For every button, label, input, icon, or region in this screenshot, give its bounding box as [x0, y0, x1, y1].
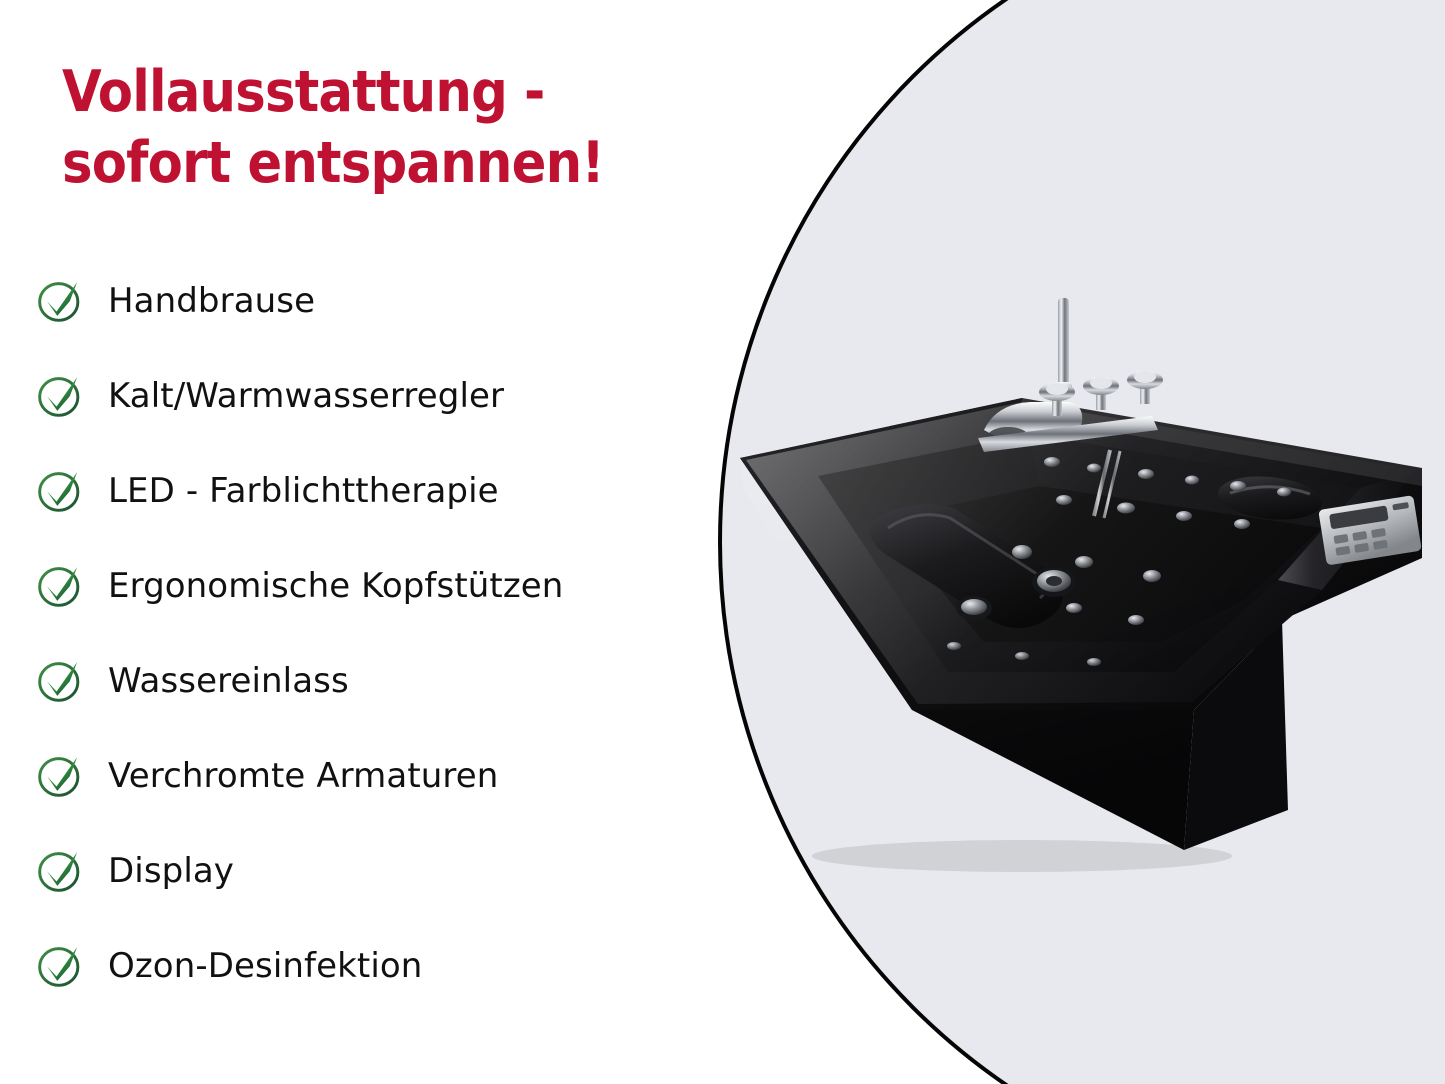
product-photo-circle: [718, 0, 1445, 1084]
list-item-label: LED - Farblichttherapie: [108, 471, 499, 511]
bathtub-illustration: [722, 290, 1445, 930]
check-circle-icon: [36, 467, 83, 514]
check-circle-icon: [36, 277, 83, 324]
list-item-label: Kalt/Warmwasserregler: [108, 376, 504, 416]
tub-rim-gloss: [746, 402, 1416, 704]
list-item: Ozon-Desinfektion: [36, 918, 716, 1013]
check-circle-icon: [36, 942, 83, 989]
list-item-label: Display: [108, 851, 234, 891]
list-item-label: Verchromte Armaturen: [108, 756, 498, 796]
list-item: Kalt/Warmwasserregler: [36, 348, 716, 443]
product-photo-clip: [722, 0, 1445, 1084]
list-item-label: Handbrause: [108, 281, 315, 321]
bathtub-svg: [722, 290, 1445, 930]
whirlpool-rotary-jet: [1032, 567, 1076, 597]
list-item: Ergonomische Kopfstützen: [36, 538, 716, 633]
list-item-label: Ergonomische Kopfstützen: [108, 566, 563, 606]
check-circle-icon: [36, 372, 83, 419]
list-item-label: Ozon-Desinfektion: [108, 946, 422, 986]
chrome-faucet-assembly: [978, 298, 1163, 452]
list-item: Handbrause: [36, 253, 716, 348]
whirlpool-suction-jet: [956, 596, 992, 620]
list-item-label: Wassereinlass: [108, 661, 349, 701]
check-circle-icon: [36, 562, 83, 609]
faucet-knob-2: [1083, 377, 1119, 410]
faucet-knob-3: [1127, 371, 1163, 404]
check-circle-icon: [36, 847, 83, 894]
check-circle-icon: [36, 752, 83, 799]
hand-shower-icon: [1058, 298, 1069, 394]
page-title: Vollausstattung - sofort entspannen!: [62, 57, 752, 198]
list-item: LED - Farblichttherapie: [36, 443, 716, 538]
feature-list: Handbrause Kalt/Warmwasserregler LED - F…: [36, 253, 716, 1013]
list-item: Display: [36, 823, 716, 918]
check-circle-icon: [36, 657, 83, 704]
promo-banner: Vollausstattung - sofort entspannen!: [0, 0, 1445, 1084]
list-item: Wassereinlass: [36, 633, 716, 728]
list-item: Verchromte Armaturen: [36, 728, 716, 823]
